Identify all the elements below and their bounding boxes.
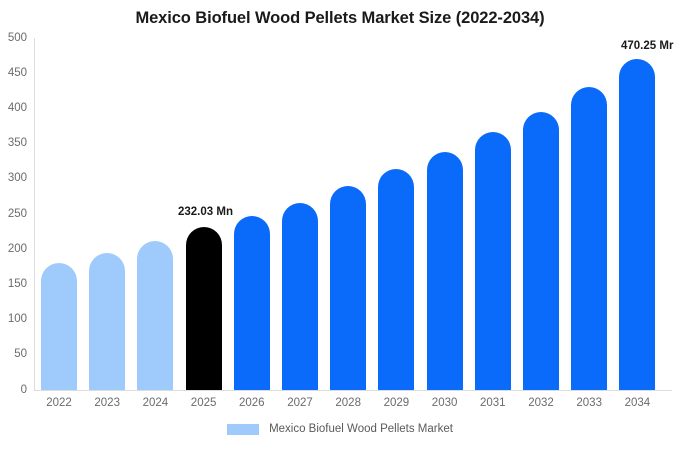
legend-swatch-icon <box>227 424 259 435</box>
x-tick-2031: 2031 <box>467 398 519 410</box>
bar-2022[interactable] <box>41 263 77 390</box>
bar-2025[interactable] <box>186 227 222 390</box>
y-tick-150: 150 <box>0 279 27 291</box>
x-tick-2023: 2023 <box>81 398 133 410</box>
x-tick-2027: 2027 <box>274 398 326 410</box>
legend-label: Mexico Biofuel Wood Pellets Market <box>269 424 453 436</box>
bar-chart: Mexico Biofuel Wood Pellets Market Size … <box>0 0 680 450</box>
x-tick-2026: 2026 <box>226 398 278 410</box>
x-tick-2022: 2022 <box>33 398 85 410</box>
bar-slot-2033 <box>571 38 607 390</box>
bar-slot-2031 <box>475 38 511 390</box>
x-tick-2029: 2029 <box>370 398 422 410</box>
y-tick-100: 100 <box>0 314 27 326</box>
x-tick-2032: 2032 <box>515 398 567 410</box>
bar-2029[interactable] <box>378 169 414 390</box>
bar-2034[interactable] <box>619 59 655 390</box>
y-tick-0: 0 <box>0 385 27 397</box>
data-label-2034: 470.25 Mr <box>621 41 673 53</box>
x-tick-2030: 2030 <box>419 398 471 410</box>
bar-slot-2026 <box>234 38 270 390</box>
bar-2031[interactable] <box>475 132 511 390</box>
bar-2032[interactable] <box>523 112 559 390</box>
y-tick-500: 500 <box>0 33 27 45</box>
bar-slot-2023 <box>89 38 125 390</box>
y-tick-300: 300 <box>0 173 27 185</box>
legend: Mexico Biofuel Wood Pellets Market <box>0 424 680 436</box>
x-tick-2028: 2028 <box>322 398 374 410</box>
bar-2030[interactable] <box>427 152 463 390</box>
y-tick-350: 350 <box>0 138 27 150</box>
bar-slot-2022 <box>41 38 77 390</box>
bar-2026[interactable] <box>234 216 270 390</box>
x-tick-2034: 2034 <box>611 398 663 410</box>
x-tick-2025: 2025 <box>178 398 230 410</box>
bar-slot-2027 <box>282 38 318 390</box>
bar-2027[interactable] <box>282 203 318 390</box>
x-tick-2033: 2033 <box>563 398 615 410</box>
x-tick-2024: 2024 <box>129 398 181 410</box>
bar-slot-2032 <box>523 38 559 390</box>
y-tick-450: 450 <box>0 68 27 80</box>
bar-2028[interactable] <box>330 186 366 390</box>
bar-2023[interactable] <box>89 253 125 390</box>
y-tick-50: 50 <box>0 349 27 361</box>
y-tick-200: 200 <box>0 244 27 256</box>
bar-slot-2034 <box>619 38 655 390</box>
bar-2024[interactable] <box>137 241 173 390</box>
bar-2033[interactable] <box>571 87 607 390</box>
bar-slot-2028 <box>330 38 366 390</box>
y-tick-400: 400 <box>0 103 27 115</box>
bar-slot-2029 <box>378 38 414 390</box>
plot-area <box>34 38 672 390</box>
bar-slot-2030 <box>427 38 463 390</box>
bar-slot-2024 <box>137 38 173 390</box>
y-tick-250: 250 <box>0 209 27 221</box>
data-label-2025: 232.03 Mn <box>178 207 233 219</box>
